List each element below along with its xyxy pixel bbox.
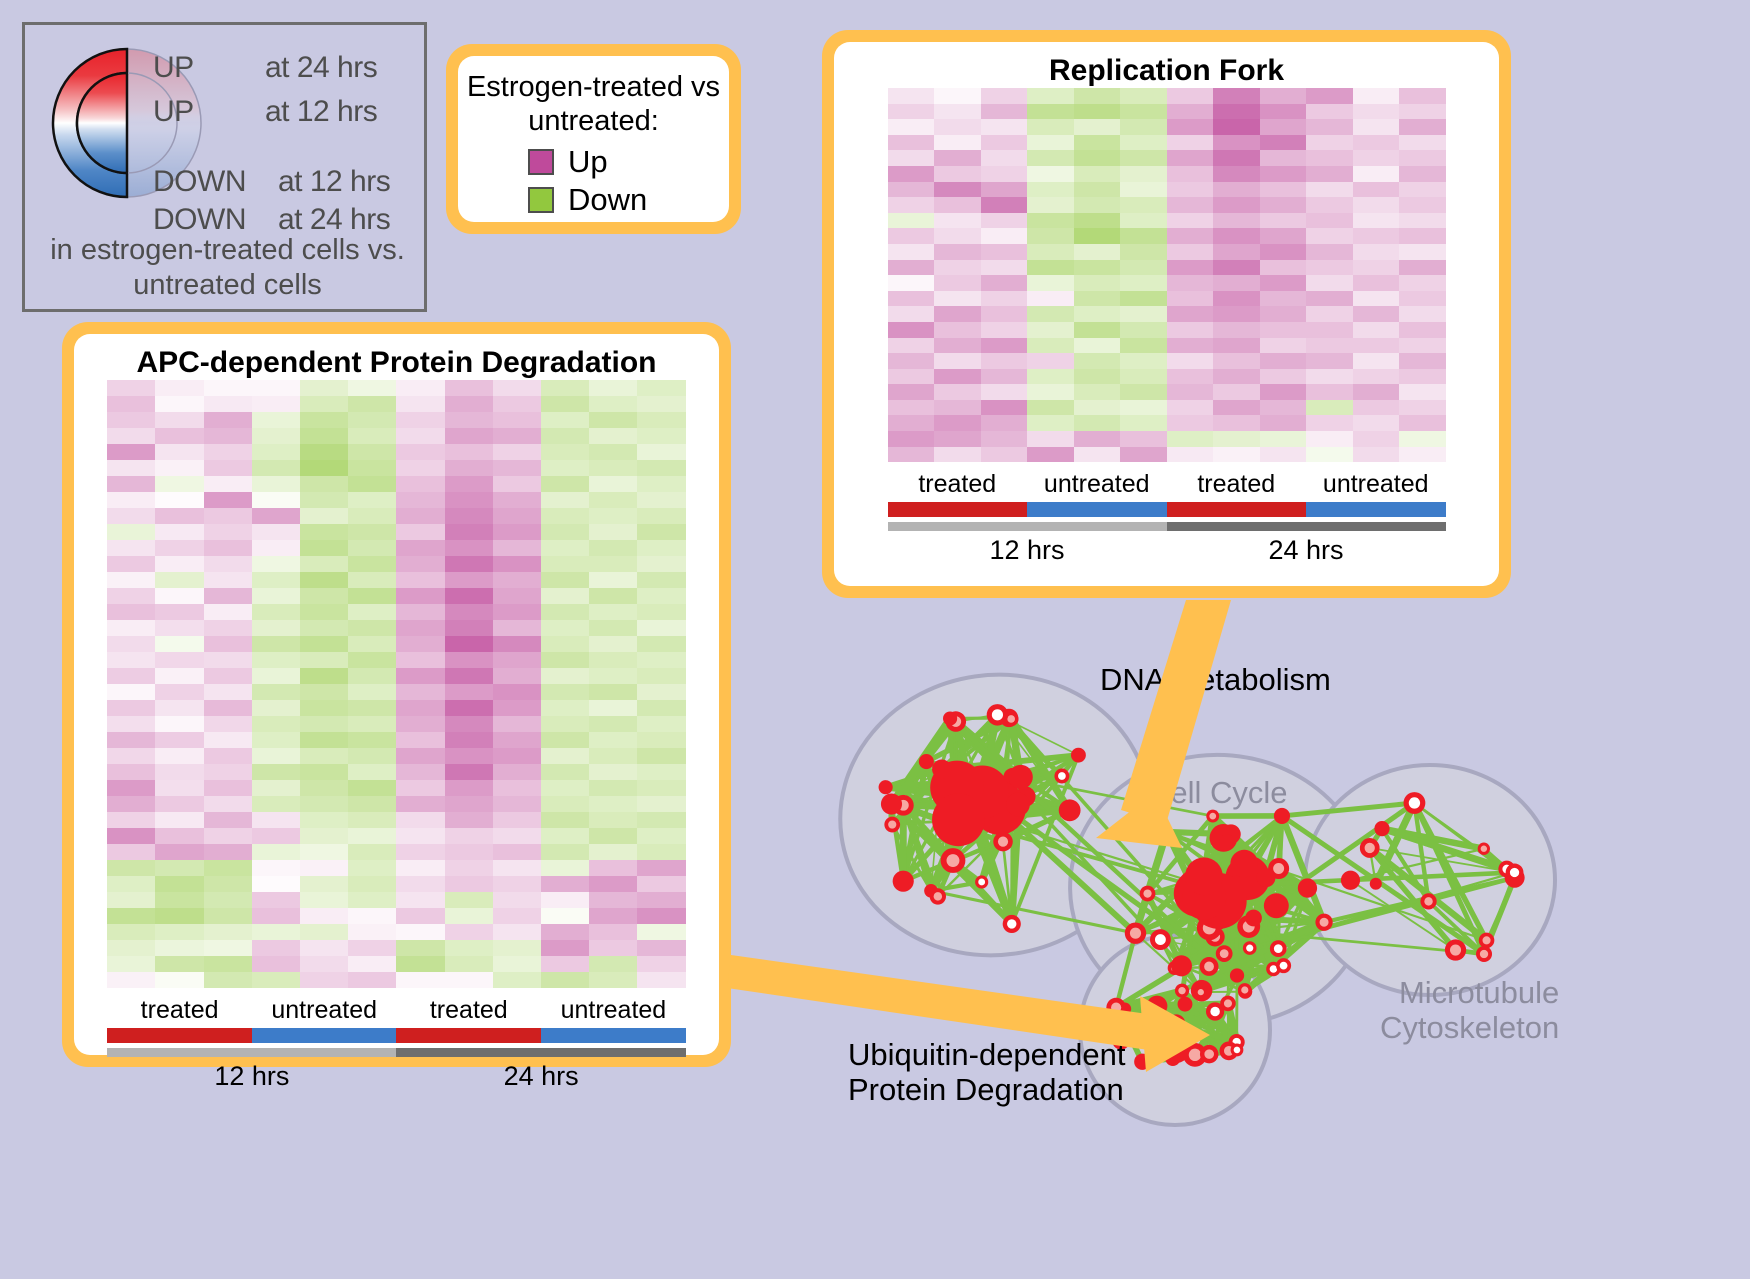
network-node[interactable] — [879, 780, 893, 794]
network-node[interactable] — [1200, 957, 1219, 976]
network-node[interactable] — [1270, 940, 1287, 957]
heatmap-cell — [1167, 415, 1214, 431]
heatmap-cell — [934, 369, 981, 385]
heatmap-cell — [1399, 150, 1446, 166]
network-node[interactable] — [1175, 984, 1189, 998]
heatmap-cell — [204, 524, 252, 540]
heatmap-cell — [107, 508, 155, 524]
network-node[interactable] — [1476, 946, 1492, 962]
heatmap-cell — [493, 572, 541, 588]
heatmap-cell — [541, 828, 589, 844]
heatmap-cell — [1260, 135, 1307, 151]
heatmap-cell — [1260, 119, 1307, 135]
heatmap-cell — [300, 972, 348, 988]
heatmap-cell — [300, 716, 348, 732]
replication-fork-time-labels: 12 hrs 24 hrs — [888, 535, 1446, 566]
heatmap-cell — [204, 892, 252, 908]
network-node[interactable] — [1230, 850, 1258, 878]
heatmap-cell — [204, 428, 252, 444]
down-colour-swatch — [528, 187, 554, 213]
network-node[interactable] — [993, 832, 1013, 852]
heatmap-cell — [1399, 182, 1446, 198]
heatmap-cell — [1027, 260, 1074, 276]
network-node[interactable] — [1341, 871, 1360, 890]
heatmap-cell — [589, 940, 637, 956]
heatmap-cell — [348, 444, 396, 460]
heatmap-cell — [589, 972, 637, 988]
heatmap-cell — [589, 604, 637, 620]
heatmap-cell — [445, 540, 493, 556]
heatmap-cell — [1167, 291, 1214, 307]
heatmap-cell — [493, 380, 541, 396]
heatmap-cell — [1260, 275, 1307, 291]
heatmap-cell — [1399, 213, 1446, 229]
heatmap-cell — [637, 412, 685, 428]
heatmap-cell — [888, 384, 935, 400]
heatmap-cell — [252, 412, 300, 428]
heatmap-cell — [155, 796, 203, 812]
heatmap-cell — [300, 492, 348, 508]
heatmap-cell — [396, 396, 444, 412]
network-node[interactable] — [1195, 986, 1207, 998]
heatmap-cell — [300, 444, 348, 460]
heatmap-cell — [637, 716, 685, 732]
heatmap-cell — [934, 166, 981, 182]
network-node[interactable] — [1071, 748, 1086, 763]
heatmap-cell — [396, 572, 444, 588]
heatmap-cell — [589, 396, 637, 412]
heatmap-cell — [396, 908, 444, 924]
heatmap-cell — [1353, 104, 1400, 120]
heatmap-cell — [155, 844, 203, 860]
heatmap-cell — [107, 588, 155, 604]
heatmap-cell — [204, 684, 252, 700]
heatmap-cell — [1120, 415, 1167, 431]
network-node[interactable] — [1276, 958, 1291, 973]
heatmap-cell — [1167, 306, 1214, 322]
network-node[interactable] — [1315, 914, 1332, 931]
heatmap-cell — [107, 940, 155, 956]
heatmap-cell — [396, 524, 444, 540]
heatmap-cell — [204, 828, 252, 844]
heatmap-cell — [1353, 369, 1400, 385]
time-bar-12hrs — [107, 1048, 396, 1057]
heatmap-cell — [252, 748, 300, 764]
heatmap-cell — [888, 135, 935, 151]
heatmap-cell — [1120, 244, 1167, 260]
heatmap-cell — [204, 652, 252, 668]
network-node[interactable] — [1106, 998, 1126, 1018]
heatmap-cell — [1306, 384, 1353, 400]
heatmap-cell — [493, 556, 541, 572]
heatmap-cell — [589, 876, 637, 892]
network-node[interactable] — [1147, 996, 1168, 1017]
network-node[interactable] — [1185, 857, 1223, 895]
wheel-label-up-12: UP — [153, 95, 194, 129]
heatmap-cell — [589, 956, 637, 972]
heatmap-cell — [204, 908, 252, 924]
heatmap-cell — [348, 460, 396, 476]
network-node[interactable] — [1009, 765, 1033, 789]
heatmap-cell — [155, 492, 203, 508]
heatmap-cell — [589, 572, 637, 588]
heatmap-cell — [637, 908, 685, 924]
network-node[interactable] — [884, 817, 900, 833]
heatmap-cell — [589, 652, 637, 668]
heatmap-cell — [445, 556, 493, 572]
heatmap-cell — [1213, 415, 1260, 431]
network-node[interactable] — [1054, 769, 1069, 784]
heatmap-cell — [107, 620, 155, 636]
heatmap-cell — [1260, 213, 1307, 229]
heatmap-cell — [300, 812, 348, 828]
network-node[interactable] — [1160, 825, 1173, 838]
network-node[interactable] — [1230, 968, 1244, 982]
up-down-key-panel: Estrogen-treated vs untreated: Up Down — [446, 44, 741, 234]
heatmap-cell — [637, 524, 685, 540]
heatmap-cell — [1260, 228, 1307, 244]
heatmap-cell — [252, 540, 300, 556]
heatmap-cell — [981, 88, 1028, 104]
heatmap-cell — [445, 812, 493, 828]
heatmap-cell — [252, 428, 300, 444]
heatmap-cell — [348, 812, 396, 828]
heatmap-cell — [348, 764, 396, 780]
network-node[interactable] — [1445, 939, 1466, 960]
apc-degradation-heatmap — [107, 380, 685, 988]
heatmap-cell — [1353, 431, 1400, 447]
heatmap-cell — [1353, 88, 1400, 104]
heatmap-cell — [888, 431, 935, 447]
heatmap-cell — [1074, 369, 1121, 385]
heatmap-cell — [493, 940, 541, 956]
heatmap-cell — [589, 540, 637, 556]
heatmap-cell — [300, 476, 348, 492]
heatmap-cell — [589, 380, 637, 396]
network-node[interactable] — [1134, 1054, 1150, 1070]
heatmap-cell — [1120, 322, 1167, 338]
heatmap-cell — [541, 924, 589, 940]
heatmap-cell — [934, 244, 981, 260]
heatmap-cell — [888, 369, 935, 385]
heatmap-cell — [1120, 260, 1167, 276]
heatmap-cell — [541, 524, 589, 540]
network-node[interactable] — [1298, 878, 1317, 897]
heatmap-cell — [981, 291, 1028, 307]
heatmap-cell — [637, 668, 685, 684]
heatmap-cell — [348, 828, 396, 844]
heatmap-cell — [1074, 244, 1121, 260]
heatmap-cell — [934, 135, 981, 151]
heatmap-cell — [1120, 275, 1167, 291]
heatmap-cell — [1120, 104, 1167, 120]
heatmap-cell — [252, 684, 300, 700]
heatmap-cell — [107, 396, 155, 412]
heatmap-cell — [589, 476, 637, 492]
heatmap-cell — [396, 764, 444, 780]
heatmap-cell — [445, 524, 493, 540]
heatmap-cell — [1213, 197, 1260, 213]
heatmap-cell — [1260, 197, 1307, 213]
heatmap-cell — [300, 412, 348, 428]
heatmap-cell — [541, 748, 589, 764]
network-node[interactable] — [943, 711, 957, 725]
heatmap-cell — [589, 668, 637, 684]
network-node[interactable] — [941, 848, 966, 873]
heatmap-cell — [1027, 104, 1074, 120]
heatmap-cell — [445, 972, 493, 988]
heatmap-cell — [155, 940, 203, 956]
network-node[interactable] — [1125, 922, 1146, 943]
wheel-label-up-24: UP — [153, 51, 194, 85]
heatmap-cell — [300, 892, 348, 908]
heatmap-cell — [981, 384, 1028, 400]
network-node[interactable] — [1171, 955, 1192, 976]
heatmap-cell — [396, 492, 444, 508]
heatmap-cell — [637, 780, 685, 796]
heatmap-cell — [252, 652, 300, 668]
heatmap-cell — [348, 684, 396, 700]
heatmap-cell — [1260, 400, 1307, 416]
heatmap-cell — [252, 572, 300, 588]
heatmap-cell — [589, 732, 637, 748]
heatmap-cell — [589, 428, 637, 444]
heatmap-cell — [1120, 197, 1167, 213]
network-node[interactable] — [1220, 996, 1236, 1012]
heatmap-cell — [493, 892, 541, 908]
heatmap-cell — [1167, 338, 1214, 354]
heatmap-cell — [445, 636, 493, 652]
heatmap-cell — [1260, 322, 1307, 338]
heatmap-cell — [1306, 415, 1353, 431]
network-node[interactable] — [932, 759, 951, 778]
heatmap-cell — [493, 412, 541, 428]
network-node[interactable] — [1370, 878, 1382, 890]
heatmap-cell — [252, 588, 300, 604]
heatmap-cell — [888, 353, 935, 369]
heatmap-cell — [204, 876, 252, 892]
heatmap-cell — [348, 876, 396, 892]
heatmap-cell — [589, 556, 637, 572]
heatmap-cell — [1074, 88, 1121, 104]
heatmap-cell — [934, 213, 981, 229]
network-node[interactable] — [1245, 910, 1262, 927]
heatmap-cell — [1399, 260, 1446, 276]
network-node[interactable] — [1374, 821, 1389, 836]
heatmap-cell — [155, 812, 203, 828]
network-node[interactable] — [1404, 792, 1426, 814]
heatmap-cell — [1353, 353, 1400, 369]
heatmap-cell — [981, 260, 1028, 276]
heatmap-cell — [396, 412, 444, 428]
network-node[interactable] — [1167, 1014, 1185, 1032]
apc-group-labels: treated untreated treated untreated — [107, 996, 685, 1025]
heatmap-cell — [493, 844, 541, 860]
heatmap-cell — [300, 924, 348, 940]
heatmap-cell — [637, 860, 685, 876]
heatmap-cell — [252, 828, 300, 844]
heatmap-cell — [888, 166, 935, 182]
heatmap-cell — [252, 956, 300, 972]
group-label: untreated — [541, 996, 686, 1025]
heatmap-cell — [155, 764, 203, 780]
network-node[interactable] — [1478, 843, 1490, 855]
heatmap-cell — [204, 972, 252, 988]
heatmap-cell — [252, 892, 300, 908]
heatmap-cell — [348, 476, 396, 492]
network-node[interactable] — [1257, 868, 1276, 887]
network-node[interactable] — [1243, 941, 1257, 955]
heatmap-cell — [541, 844, 589, 860]
heatmap-cell — [445, 508, 493, 524]
heatmap-cell — [445, 764, 493, 780]
heatmap-cell — [934, 400, 981, 416]
heatmap-cell — [589, 924, 637, 940]
heatmap-cell — [107, 732, 155, 748]
heatmap-cell — [300, 844, 348, 860]
network-node[interactable] — [1006, 793, 1030, 817]
network-node[interactable] — [1140, 886, 1156, 902]
network-node[interactable] — [1231, 1044, 1244, 1057]
heatmap-cell — [493, 956, 541, 972]
heatmap-cell — [888, 213, 935, 229]
heatmap-cell — [541, 780, 589, 796]
heatmap-cell — [300, 540, 348, 556]
network-node[interactable] — [1178, 997, 1193, 1012]
heatmap-cell — [155, 876, 203, 892]
heatmap-cell — [589, 716, 637, 732]
heatmap-cell — [934, 275, 981, 291]
heatmap-cell — [1213, 306, 1260, 322]
heatmap-cell — [1213, 166, 1260, 182]
network-node[interactable] — [1059, 799, 1081, 821]
network-node[interactable] — [975, 875, 988, 888]
heatmap-cell — [1120, 166, 1167, 182]
heatmap-cell — [637, 940, 685, 956]
heatmap-cell — [541, 956, 589, 972]
heatmap-cell — [1167, 431, 1214, 447]
network-node[interactable] — [881, 793, 902, 814]
heatmap-cell — [1306, 104, 1353, 120]
heatmap-cell — [204, 780, 252, 796]
heatmap-cell — [1027, 291, 1074, 307]
wheel-label-time-24-down: at 24 hrs — [278, 203, 390, 237]
network-node[interactable] — [919, 754, 934, 769]
network-node[interactable] — [1479, 933, 1495, 949]
heatmap-cell — [1306, 244, 1353, 260]
heatmap-cell — [1260, 166, 1307, 182]
heatmap-cell — [981, 119, 1028, 135]
heatmap-cell — [589, 748, 637, 764]
heatmap-cell — [981, 322, 1028, 338]
heatmap-cell — [348, 620, 396, 636]
heatmap-cell — [1167, 400, 1214, 416]
heatmap-cell — [445, 492, 493, 508]
heatmap-cell — [589, 460, 637, 476]
heatmap-cell — [1399, 369, 1446, 385]
heatmap-cell — [300, 796, 348, 812]
heatmap-cell — [541, 860, 589, 876]
heatmap-cell — [396, 732, 444, 748]
heatmap-cell — [493, 460, 541, 476]
heatmap-cell — [396, 588, 444, 604]
group-label: untreated — [252, 996, 397, 1025]
network-node[interactable] — [1206, 810, 1219, 823]
heatmap-cell — [934, 88, 981, 104]
network-node[interactable] — [1238, 983, 1252, 997]
network-node[interactable] — [893, 871, 914, 892]
heatmap-cell — [637, 972, 685, 988]
heatmap-cell — [348, 940, 396, 956]
wheel-label-time-12-down: at 12 hrs — [278, 165, 390, 199]
network-node[interactable] — [1264, 893, 1289, 918]
network-node[interactable] — [1420, 893, 1436, 909]
network-node[interactable] — [932, 793, 985, 846]
heatmap-cell — [1120, 369, 1167, 385]
heatmap-cell — [1027, 306, 1074, 322]
heatmap-cell — [589, 524, 637, 540]
network-node[interactable] — [1360, 838, 1380, 858]
heatmap-cell — [1074, 306, 1121, 322]
heatmap-cell — [445, 428, 493, 444]
heatmap-cell — [445, 828, 493, 844]
network-node[interactable] — [1219, 834, 1235, 850]
heatmap-cell — [300, 652, 348, 668]
cluster-label-cell-cycle: Cell Cycle — [1148, 775, 1288, 810]
heatmap-cell — [300, 700, 348, 716]
network-node[interactable] — [930, 888, 946, 904]
network-node[interactable] — [1003, 915, 1021, 933]
replication-fork-condition-bars — [888, 502, 1446, 517]
heatmap-cell — [300, 860, 348, 876]
heatmap-cell — [1074, 104, 1121, 120]
heatmap-cell — [107, 380, 155, 396]
heatmap-cell — [1213, 228, 1260, 244]
heatmap-cell — [1213, 322, 1260, 338]
heatmap-cell — [396, 700, 444, 716]
heatmap-cell — [1353, 260, 1400, 276]
heatmap-cell — [445, 572, 493, 588]
heatmap-cell — [155, 444, 203, 460]
group-label: treated — [107, 996, 252, 1025]
heatmap-cell — [1353, 135, 1400, 151]
heatmap-cell — [445, 684, 493, 700]
heatmap-cell — [396, 796, 444, 812]
network-node[interactable] — [1200, 1045, 1218, 1063]
network-node[interactable] — [1216, 945, 1233, 962]
heatmap-cell — [155, 572, 203, 588]
heatmap-cell — [300, 684, 348, 700]
heatmap-cell — [934, 291, 981, 307]
heatmap-cell — [637, 652, 685, 668]
heatmap-cell — [589, 412, 637, 428]
heatmap-cell — [589, 684, 637, 700]
heatmap-cell — [252, 860, 300, 876]
network-node[interactable] — [1150, 929, 1171, 950]
heatmap-cell — [541, 508, 589, 524]
network-node[interactable] — [1506, 864, 1524, 882]
heatmap-cell — [589, 588, 637, 604]
heatmap-cell — [981, 447, 1028, 463]
heatmap-cell — [1260, 104, 1307, 120]
heatmap-cell — [300, 604, 348, 620]
network-node[interactable] — [987, 704, 1008, 725]
heatmap-cell — [107, 668, 155, 684]
heatmap-cell — [1213, 119, 1260, 135]
heatmap-cell — [637, 588, 685, 604]
heatmap-cell — [541, 972, 589, 988]
heatmap-cell — [107, 780, 155, 796]
